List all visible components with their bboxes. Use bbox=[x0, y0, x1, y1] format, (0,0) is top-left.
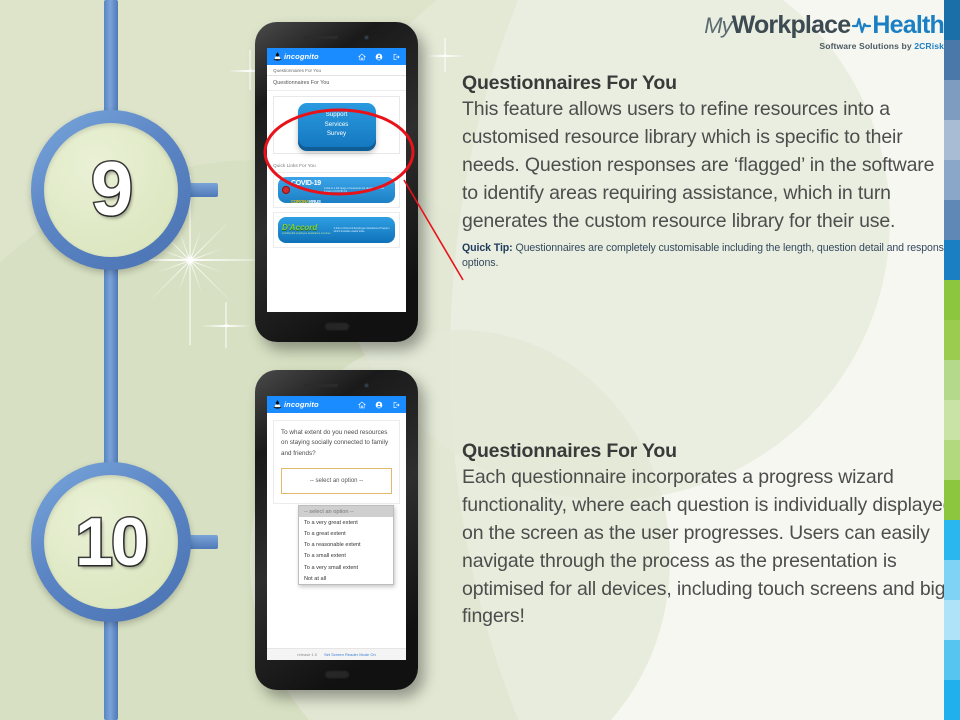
question-card: To what extent do you need resources on … bbox=[273, 420, 400, 504]
edge-strip-segment bbox=[944, 0, 960, 40]
logo-wordmark: MyWorkplaceHealth bbox=[704, 13, 944, 40]
option-item[interactable]: To a very great extent bbox=[299, 517, 393, 528]
covid-logo: COVID-19 CORONAVIRUS bbox=[282, 177, 321, 203]
covid-title: COVID-19 bbox=[291, 180, 321, 187]
text-section-9: Questionnaires For You This feature allo… bbox=[462, 72, 954, 271]
edge-color-strip bbox=[944, 0, 960, 720]
daccord-logo: D'Accord confidential employee assistanc… bbox=[282, 224, 331, 235]
daccord-description: A link to DAccord Employee Assistance Pr… bbox=[334, 227, 391, 233]
phone-screen-bottom: incognito bbox=[267, 396, 406, 660]
app-brand: incognito bbox=[273, 52, 319, 61]
covid-link-pill[interactable]: COVID-19 CORONAVIRUS A link to a full ra… bbox=[278, 177, 395, 203]
user-icon[interactable] bbox=[375, 53, 383, 61]
button-line-2: Services bbox=[302, 120, 372, 130]
incognito-logo-icon bbox=[273, 52, 282, 61]
phone-screen-top: incognito Quest bbox=[267, 48, 406, 312]
button-line-1: Support bbox=[302, 110, 372, 120]
quick-tip: Quick Tip: Questionnaires are completely… bbox=[462, 241, 954, 271]
quick-links-label: Quick Links For You bbox=[267, 159, 406, 172]
app-header-icons bbox=[358, 401, 400, 409]
edge-strip-segment bbox=[944, 320, 960, 360]
edge-strip-segment bbox=[944, 680, 960, 720]
daccord-link-pill[interactable]: D'Accord confidential employee assistanc… bbox=[278, 217, 395, 243]
home-icon[interactable] bbox=[358, 53, 366, 61]
option-item[interactable]: Not at all bbox=[299, 573, 393, 584]
breadcrumb[interactable]: Questionnaires For You bbox=[267, 65, 406, 76]
edge-strip-segment bbox=[944, 200, 960, 240]
app-name-label: incognito bbox=[284, 400, 319, 409]
app-name-label: incognito bbox=[284, 52, 319, 61]
logo-health: Health bbox=[872, 11, 944, 39]
quick-tip-label: Quick Tip: bbox=[462, 242, 513, 254]
daccord-title: D'Accord bbox=[282, 224, 317, 232]
survey-card: Support Services Survey bbox=[273, 96, 400, 154]
edge-strip-segment bbox=[944, 400, 960, 440]
app-header-icons bbox=[358, 53, 400, 61]
edge-strip-segment bbox=[944, 240, 960, 280]
step-marker-9: 9 bbox=[31, 110, 191, 270]
app-brand: incognito bbox=[273, 400, 319, 409]
phone-mockup-bottom: incognito bbox=[255, 370, 418, 690]
section-body: This feature allows users to refine reso… bbox=[462, 96, 954, 235]
answer-select[interactable]: -- select an option -- bbox=[281, 468, 392, 494]
edge-strip-segment bbox=[944, 160, 960, 200]
user-icon[interactable] bbox=[375, 401, 383, 409]
step-number-label: 10 bbox=[75, 508, 147, 576]
quick-link-daccord[interactable]: D'Accord confidential employee assistanc… bbox=[273, 212, 400, 248]
company-logo: MyWorkplaceHealth Software Solutions by … bbox=[704, 13, 944, 51]
step-number-label: 9 bbox=[91, 152, 131, 228]
phone-bezel-bottom bbox=[255, 666, 418, 682]
daccord-logo-subtitle: confidential employee assistance service… bbox=[282, 232, 331, 235]
phone-mockup-top: incognito Quest bbox=[255, 22, 418, 342]
section-body: Each questionnaire incorporates a progre… bbox=[462, 464, 954, 631]
edge-strip-segment bbox=[944, 440, 960, 480]
logout-icon[interactable] bbox=[392, 53, 400, 61]
logout-icon[interactable] bbox=[392, 401, 400, 409]
app-header: incognito bbox=[267, 396, 406, 413]
section-heading: Questionnaires For You bbox=[462, 440, 954, 463]
option-item[interactable]: To a small extent bbox=[299, 551, 393, 562]
covid-description: A link to a full range of resources for … bbox=[324, 187, 391, 193]
edge-strip-segment bbox=[944, 80, 960, 120]
text-section-10: Questionnaires For You Each questionnair… bbox=[462, 440, 954, 631]
incognito-logo-icon bbox=[273, 400, 282, 409]
option-item[interactable]: -- select an option -- bbox=[299, 506, 393, 517]
screen-reader-toggle-link[interactable]: Set Screen Reader Mode On bbox=[324, 652, 376, 657]
edge-strip-segment bbox=[944, 40, 960, 80]
edge-strip-segment bbox=[944, 600, 960, 640]
support-services-survey-button[interactable]: Support Services Survey bbox=[298, 103, 376, 147]
phone-bezel-bottom bbox=[255, 318, 418, 334]
button-line-3: Survey bbox=[302, 129, 372, 139]
edge-strip-segment bbox=[944, 520, 960, 560]
edge-strip-segment bbox=[944, 360, 960, 400]
virus-icon bbox=[282, 186, 290, 194]
logo-tagline-risk: 2CRisk bbox=[914, 41, 944, 51]
logo-workplace: Workplace bbox=[732, 11, 851, 39]
edge-strip-segment bbox=[944, 120, 960, 160]
quick-tip-text: Questionnaires are completely customisab… bbox=[462, 242, 950, 269]
phone-camera bbox=[364, 383, 369, 388]
edge-strip-segment bbox=[944, 480, 960, 520]
logo-my: My bbox=[704, 13, 731, 38]
option-item[interactable]: To a very small extent bbox=[299, 562, 393, 573]
slide-canvas: 9 10 incognito bbox=[0, 0, 960, 720]
phone-home-button bbox=[324, 670, 350, 679]
logo-tagline: Software Solutions by 2CRisk bbox=[704, 41, 944, 51]
covid-subtitle-a: CORONA bbox=[291, 199, 309, 203]
release-label: release 1.0 bbox=[297, 652, 317, 657]
phone-home-button bbox=[324, 322, 350, 331]
phone-bezel-top bbox=[255, 31, 418, 43]
question-text: To what extent do you need resources on … bbox=[281, 428, 392, 459]
quick-link-covid[interactable]: COVID-19 CORONAVIRUS A link to a full ra… bbox=[273, 172, 400, 208]
edge-strip-segment bbox=[944, 280, 960, 320]
answer-options-dropdown[interactable]: -- select an option -- To a very great e… bbox=[298, 505, 394, 585]
phone-bezel-top bbox=[255, 379, 418, 391]
edge-strip-segment bbox=[944, 560, 960, 600]
phone-speaker bbox=[304, 384, 338, 387]
home-icon[interactable] bbox=[358, 401, 366, 409]
app-header: incognito bbox=[267, 48, 406, 65]
heartbeat-icon bbox=[851, 13, 871, 40]
app-footer: release 1.0 Set Screen Reader Mode On bbox=[267, 648, 406, 660]
phone-speaker bbox=[304, 36, 338, 39]
survey-button-panel: Support Services Survey bbox=[267, 91, 406, 159]
option-item[interactable]: To a great extent bbox=[299, 528, 393, 539]
page-title: Questionnaires For You bbox=[267, 76, 406, 91]
covid-subtitle-b: VIRUS bbox=[309, 199, 321, 203]
edge-strip-segment bbox=[944, 640, 960, 680]
section-heading: Questionnaires For You bbox=[462, 72, 954, 95]
logo-tagline-pre: Software Solutions by bbox=[819, 41, 914, 51]
phone-camera bbox=[364, 35, 369, 40]
option-item[interactable]: To a reasonable extent bbox=[299, 540, 393, 551]
step-marker-10: 10 bbox=[31, 462, 191, 622]
